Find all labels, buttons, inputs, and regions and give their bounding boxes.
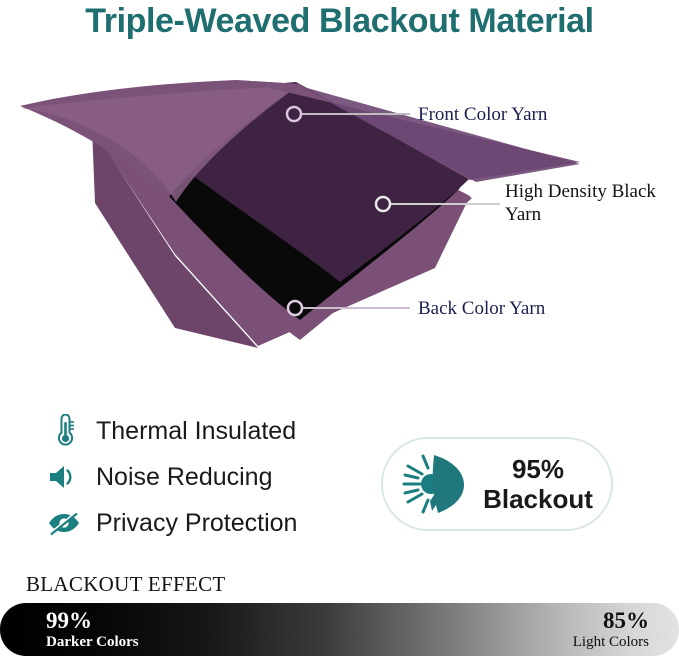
page-title: Triple-Weaved Blackout Material <box>0 2 679 41</box>
feature-label-privacy: Privacy Protection <box>96 509 297 538</box>
blackout-badge: 95% Blackout <box>381 437 613 531</box>
effect-right-label: Light Colors <box>573 633 649 651</box>
blackout-effect-heading: BLACKOUT EFFECT <box>26 572 226 597</box>
feature-list: Thermal Insulated Noise Reducing Privacy… <box>44 408 364 546</box>
feature-label-thermal: Thermal Insulated <box>96 417 296 446</box>
label-back-color-yarn: Back Color Yarn <box>418 297 545 320</box>
badge-text-wrap: 95% Blackout <box>473 454 611 514</box>
effect-darker-colors: 99% Darker Colors <box>46 609 139 651</box>
label-front-color-yarn: Front Color Yarn <box>418 103 547 126</box>
effect-light-colors: 85% Light Colors <box>573 609 649 651</box>
fabric-layers-diagram <box>0 78 679 378</box>
effect-left-label: Darker Colors <box>46 633 139 651</box>
effect-left-percent: 99% <box>46 609 139 633</box>
speaker-sound-icon <box>44 457 84 497</box>
feature-thermal-insulated: Thermal Insulated <box>44 408 364 454</box>
effect-right-percent: 85% <box>573 609 649 633</box>
label-high-density-black-yarn: High Density Black Yarn <box>505 180 665 226</box>
badge-label: Blackout <box>483 484 593 514</box>
badge-percent: 95% <box>512 454 564 484</box>
feature-privacy-protection: Privacy Protection <box>44 500 364 546</box>
feature-label-noise: Noise Reducing <box>96 463 273 492</box>
blackout-effect-gradient-bar: 99% Darker Colors 85% Light Colors <box>0 603 679 656</box>
thermometer-icon <box>44 411 84 451</box>
feature-noise-reducing: Noise Reducing <box>44 454 364 500</box>
sun-blocked-by-curtain-icon <box>395 449 473 519</box>
eye-slash-icon <box>44 503 84 543</box>
